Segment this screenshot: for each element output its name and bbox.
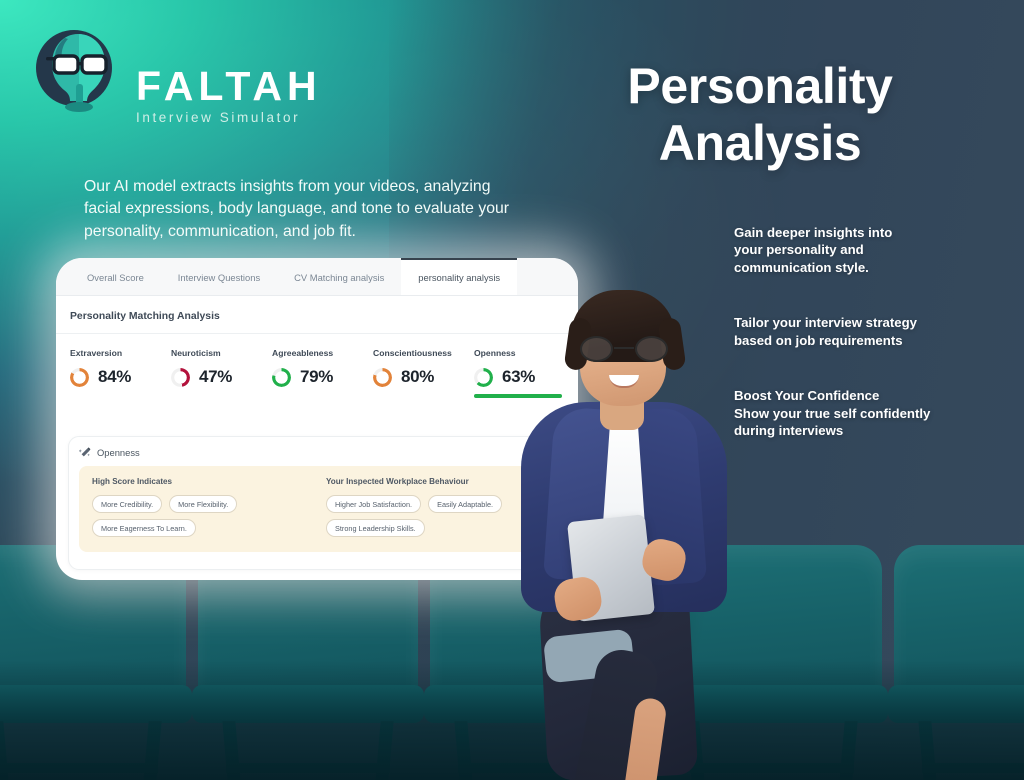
high-score-pill: More Credibility.: [92, 495, 162, 513]
feature-bullet-line: based on job requirements: [734, 332, 1004, 349]
trait-gauge-ring: [70, 368, 89, 387]
workplace-behaviour-pill: Strong Leadership Skills.: [326, 519, 425, 537]
person-photo: [497, 278, 747, 780]
feature-bullet-line: Show your true self confidently: [734, 405, 1004, 422]
high-score-pill: More Eagerness To Learn.: [92, 519, 196, 537]
trait-gauge-ring: [272, 368, 291, 387]
high-score-column: High Score Indicates More Credibility.Mo…: [92, 477, 317, 539]
workplace-behaviour-pill: Easily Adaptable.: [428, 495, 502, 513]
workplace-behaviour-pill: Higher Job Satisfaction.: [326, 495, 421, 513]
high-score-pill: More Flexibility.: [169, 495, 237, 513]
trait-agreeableness[interactable]: Agreeableness79%: [272, 348, 373, 398]
trait-label: Conscientiousness: [373, 348, 474, 358]
feature-bullets: Gain deeper insights intoyour personalit…: [734, 224, 1004, 439]
trait-label: Extraversion: [70, 348, 171, 358]
trait-gauge-ring: [474, 368, 493, 387]
trait-value: 47%: [199, 367, 232, 387]
feature-bullet-3: Boost Your ConfidenceShow your true self…: [734, 387, 1004, 439]
trait-extraversion[interactable]: Extraversion84%: [70, 348, 171, 398]
magic-wand-icon: [79, 446, 91, 458]
brand-wordmark: FALTAH Interview Simulator: [136, 66, 311, 125]
eyeglasses-icon: [579, 336, 669, 362]
page-title-line-1: Personality: [627, 58, 892, 114]
feature-bullet-1: Gain deeper insights intoyour personalit…: [734, 224, 1004, 276]
trait-label: Agreeableness: [272, 348, 373, 358]
feature-bullet-line: Boost Your Confidence: [734, 387, 1004, 404]
trait-label: Neuroticism: [171, 348, 272, 358]
brand-logo: FALTAH Interview Simulator: [28, 20, 328, 120]
tab-overall-score[interactable]: Overall Score: [70, 258, 161, 295]
feature-bullet-line: communication style.: [734, 259, 1004, 276]
feature-bullet-2: Tailor your interview strategybased on j…: [734, 314, 1004, 349]
trait-detail-title: Openness: [97, 447, 140, 458]
trait-value: 80%: [401, 367, 434, 387]
ai-head-glasses-icon: [32, 24, 124, 116]
trait-gauge-ring: [171, 368, 190, 387]
trait-detail-panel: Openness High Score Indicates More Credi…: [68, 436, 566, 570]
high-score-heading: High Score Indicates: [92, 477, 317, 486]
feature-bullet-line: Tailor your interview strategy: [734, 314, 1004, 331]
trait-detail-header: Openness: [79, 446, 555, 458]
feature-bullet-line: Gain deeper insights into: [734, 224, 1004, 241]
page-title-line-2: Analysis: [659, 115, 861, 171]
page-title: Personality Analysis: [550, 58, 970, 172]
brand-tagline: Interview Simulator: [136, 110, 311, 125]
high-score-pill-list: More Credibility.More Flexibility.More E…: [92, 495, 317, 537]
trait-gauge-ring: [373, 368, 392, 387]
feature-bullet-line: during interviews: [734, 422, 1004, 439]
trait-neuroticism[interactable]: Neuroticism47%: [171, 348, 272, 398]
trait-detail-body: High Score Indicates More Credibility.Mo…: [79, 466, 555, 552]
tab-interview-questions[interactable]: Interview Questions: [161, 258, 277, 295]
trait-value: 84%: [98, 367, 131, 387]
tab-cv-matching-analysis[interactable]: CV Matching analysis: [277, 258, 401, 295]
intro-paragraph: Our AI model extracts insights from your…: [84, 176, 514, 243]
trait-conscientiousness[interactable]: Conscientiousness80%: [373, 348, 474, 398]
feature-bullet-line: your personality and: [734, 241, 1004, 258]
brand-name: FALTAH: [136, 66, 311, 107]
trait-value: 79%: [300, 367, 333, 387]
